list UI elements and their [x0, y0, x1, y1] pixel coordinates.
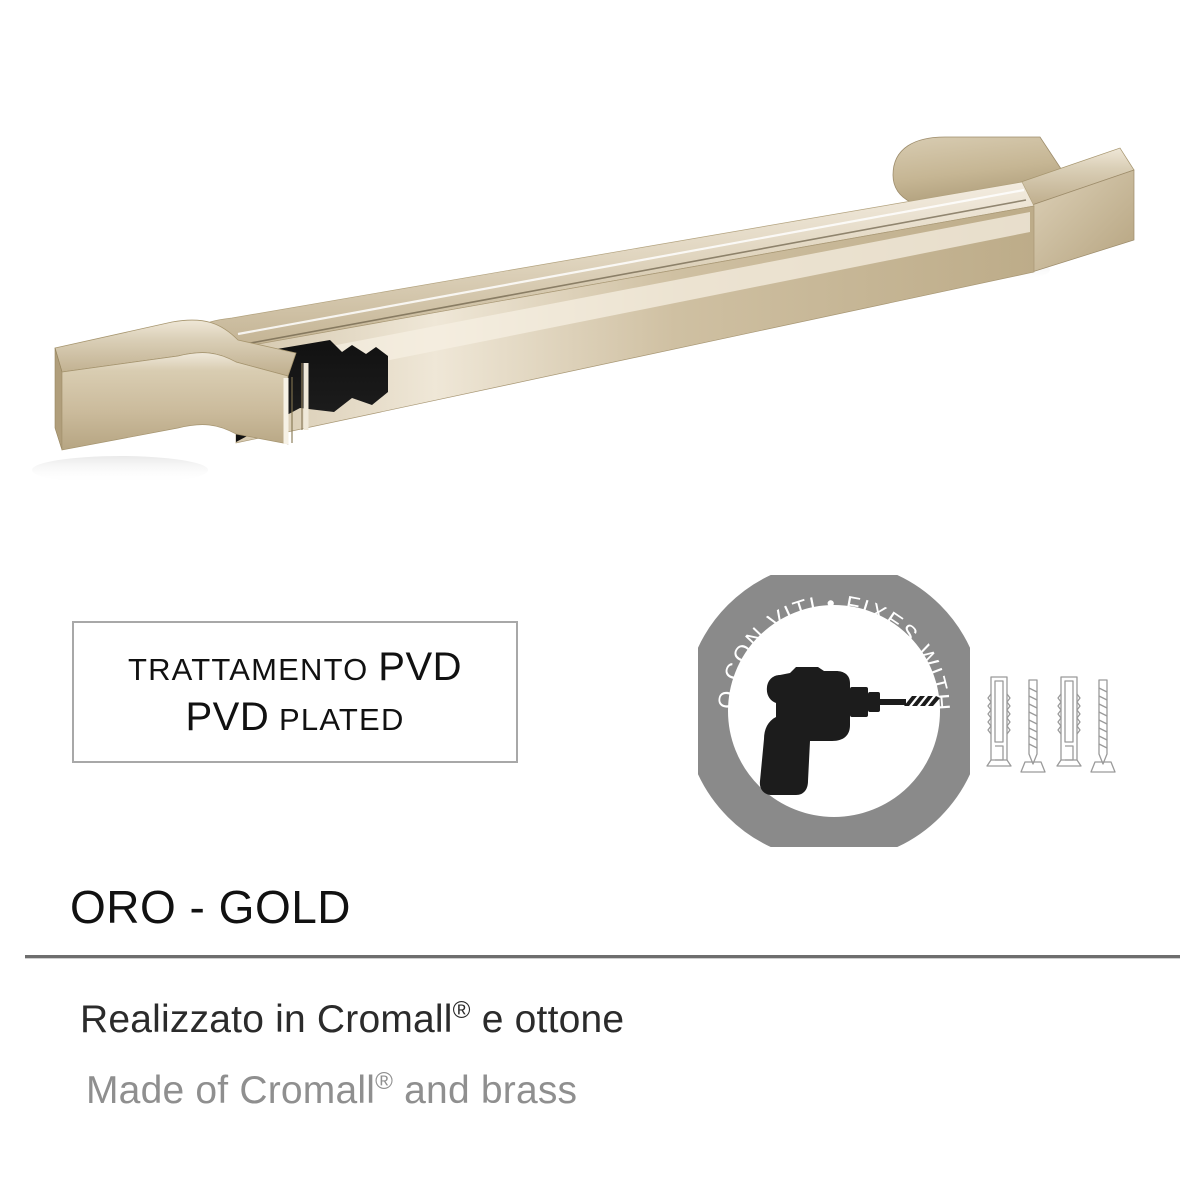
material-italian-before: Realizzato in Cromall — [80, 998, 453, 1041]
material-english-before: Made of Cromall — [86, 1069, 375, 1112]
fixing-hardware-group — [985, 668, 1120, 783]
pvd-english-emphasis: PVD — [185, 695, 269, 739]
fixes-with-screws-badge: FISSAGGIO CON VITI • FIXES WITH SCREWS — [698, 575, 970, 847]
finish-title: ORO - GOLD — [70, 880, 351, 934]
material-italian-after: e ottone — [471, 998, 625, 1041]
screw-1 — [1021, 680, 1045, 772]
material-description-english: Made of Cromall® and brass — [86, 1068, 577, 1113]
pvd-label-english: PVD PLATED — [185, 692, 404, 742]
product-photo — [0, 0, 1200, 560]
pvd-english-suffix: PLATED — [269, 702, 404, 737]
material-english-after: and brass — [393, 1069, 577, 1112]
pvd-italian-emphasis: PVD — [378, 645, 462, 689]
registered-trademark-icon-en: ® — [375, 1068, 393, 1095]
section-divider — [25, 955, 1180, 959]
pvd-treatment-box: TRATTAMENTO PVD PVD PLATED — [72, 621, 518, 763]
material-description-italian: Realizzato in Cromall® e ottone — [80, 997, 624, 1042]
product-spec-sheet: TRATTAMENTO PVD PVD PLATED FISSAGGIO CON… — [0, 0, 1200, 1200]
wall-anchor-2 — [1057, 677, 1081, 766]
left-bracket-shadow — [32, 456, 208, 484]
registered-trademark-icon-it: ® — [453, 997, 471, 1024]
pvd-italian-prefix: TRATTAMENTO — [128, 652, 378, 687]
screw-2 — [1091, 680, 1115, 772]
pvd-label-italian: TRATTAMENTO PVD — [128, 642, 462, 692]
towel-bar-illustration — [0, 0, 1200, 560]
wall-anchor-1 — [987, 677, 1011, 766]
